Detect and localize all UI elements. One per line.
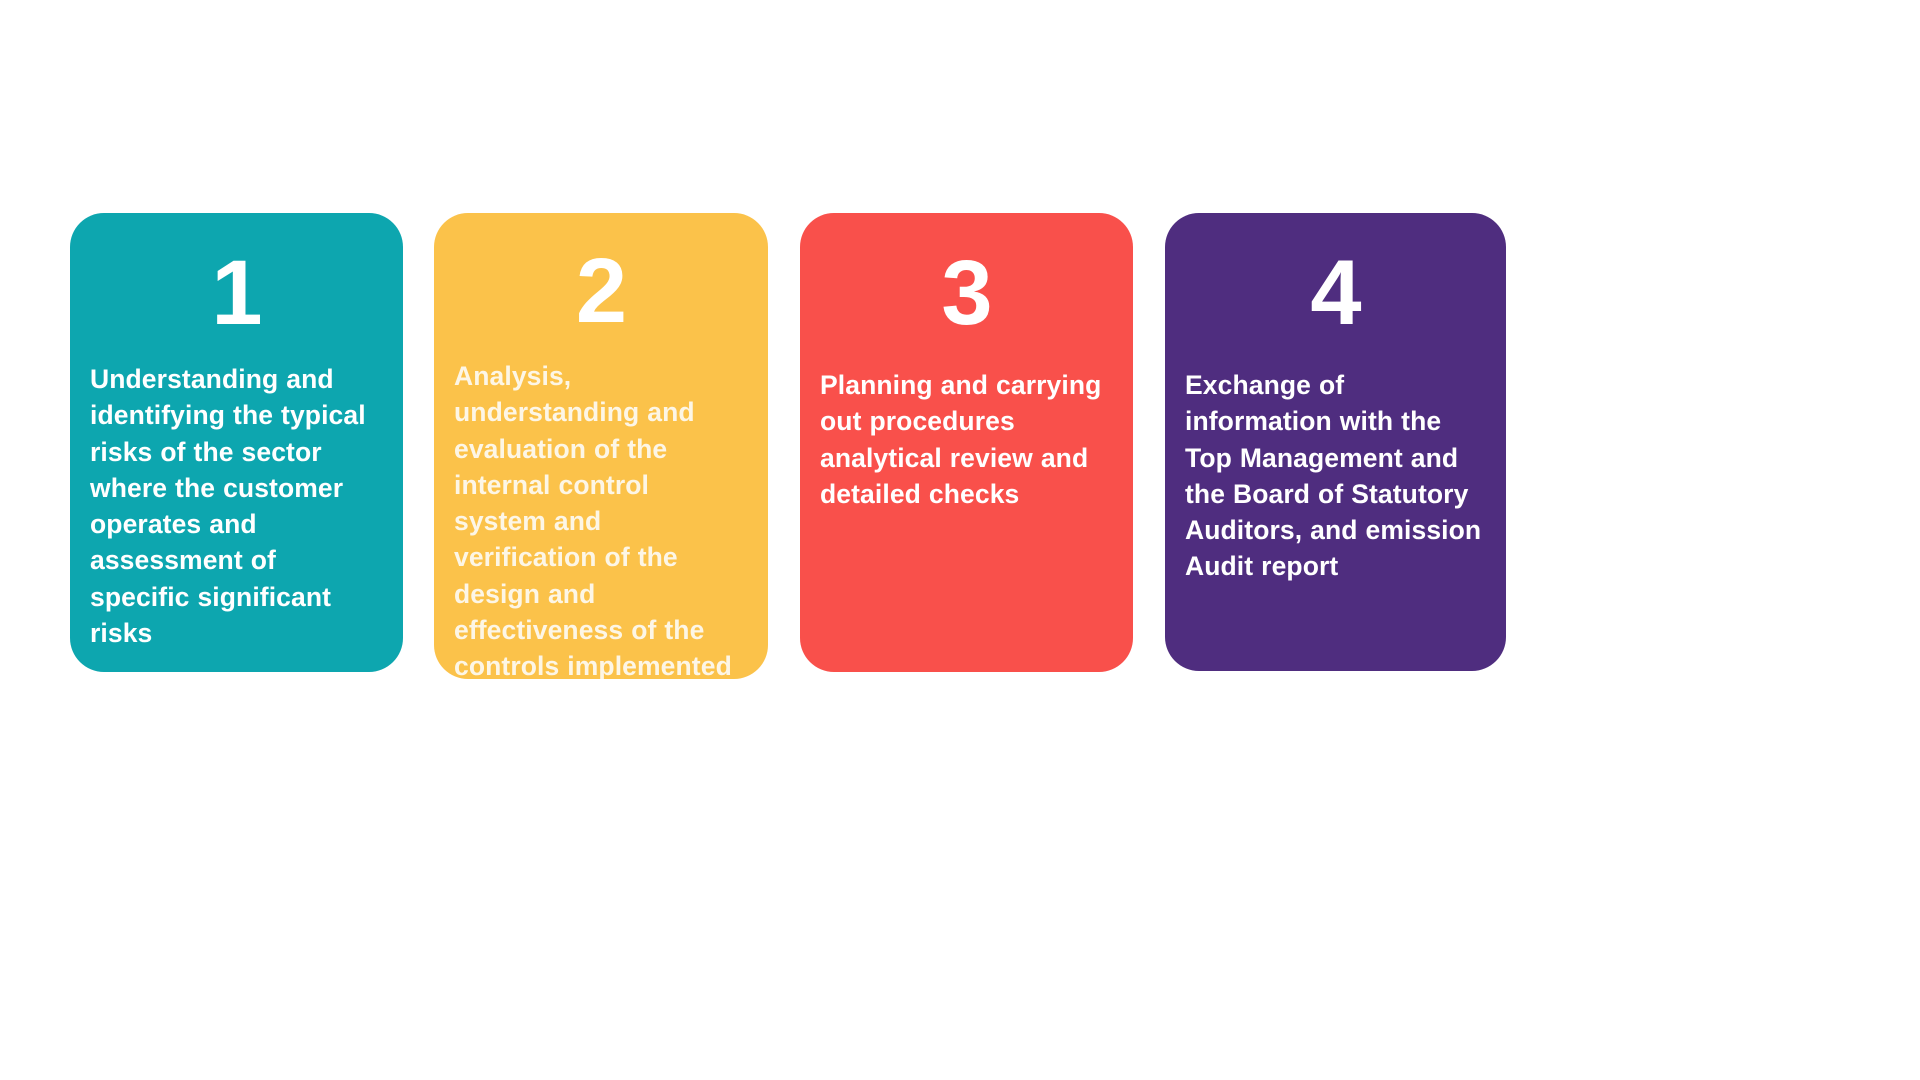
step-number-3: 3	[800, 213, 1133, 347]
slide-canvas: 1 Understanding and identifying the typi…	[0, 0, 1920, 1080]
step-description-4: Exchange of information with the Top Man…	[1165, 367, 1506, 585]
step-number-4: 4	[1165, 213, 1506, 347]
step-card-3[interactable]: 3 Planning and carrying out procedures a…	[800, 213, 1133, 672]
step-card-4[interactable]: 4 Exchange of information with the Top M…	[1165, 213, 1506, 671]
step-description-1: Understanding and identifying the typica…	[70, 361, 403, 651]
step-number-1: 1	[70, 213, 403, 347]
step-card-1[interactable]: 1 Understanding and identifying the typi…	[70, 213, 403, 672]
step-card-2[interactable]: 2 Analysis, understanding and evaluation…	[434, 213, 768, 679]
step-description-2: Analysis, understanding and evaluation o…	[434, 358, 768, 679]
step-description-3: Planning and carrying out procedures ana…	[800, 367, 1133, 512]
step-number-2: 2	[434, 213, 768, 345]
